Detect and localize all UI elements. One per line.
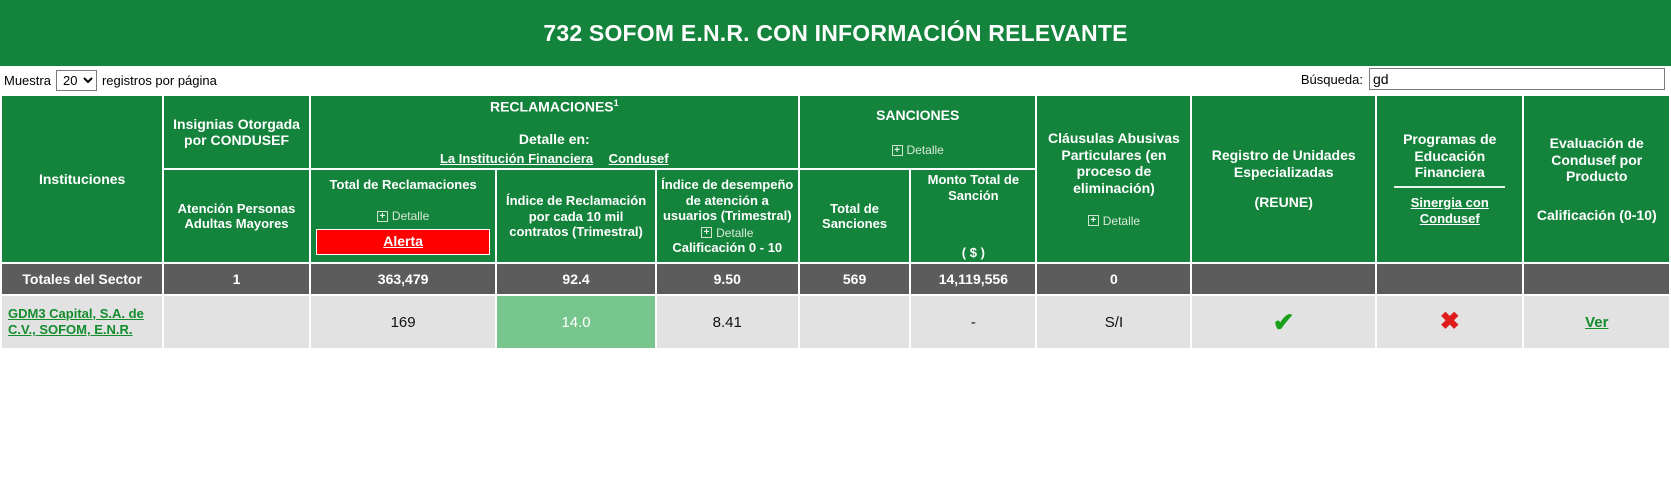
page-length-select[interactable]: 20 — [56, 70, 97, 91]
reclamaciones-footnote-ref: 1 — [614, 98, 619, 108]
link-institucion-financiera[interactable]: La Institución Financiera — [440, 151, 593, 166]
page-title-bar: 732 SOFOM E.N.R. CON INFORMACIÓN RELEVAN… — [0, 0, 1671, 66]
reclamaciones-label: RECLAMACIONES — [490, 99, 614, 115]
col-reclamaciones-group: RECLAMACIONES1 Detalle en: La Institució… — [311, 96, 798, 168]
row-indice-desempeno: 8.41 — [657, 296, 798, 348]
row-total-sanciones — [800, 296, 909, 348]
totals-indice-desempeno: 9.50 — [657, 264, 798, 294]
row-reune-cell: ✔ — [1192, 296, 1375, 348]
totals-row: Totales del Sector 1 363,479 92.4 9.50 5… — [2, 264, 1669, 294]
plus-icon: + — [1088, 215, 1099, 226]
row-institucion-cell: GDM3 Capital, S.A. de C.V., SOFOM, E.N.R… — [2, 296, 162, 348]
clausulas-detalle-inner[interactable]: + Detalle — [1088, 214, 1140, 228]
col-reune: Registro de Unidades Especializadas (REU… — [1192, 96, 1375, 262]
plus-icon: + — [892, 145, 903, 156]
monto-total-unit-label: ( $ ) — [914, 245, 1032, 260]
reune-label-line2: (REUNE) — [1195, 194, 1372, 211]
col-evaluacion-condusef: Evaluación de Condusef por Producto Cali… — [1524, 96, 1669, 262]
totals-evaluacion — [1524, 264, 1669, 294]
check-icon: ✔ — [1273, 307, 1295, 337]
row-indice-reclamacion: 14.0 — [497, 296, 654, 348]
col-atencion-personas-adultas-mayores: Atención Personas Adultas Mayores — [164, 170, 308, 262]
col-monto-total-sancion: Monto Total de Sanción ( $ ) — [911, 170, 1035, 262]
sanciones-label: SANCIONES — [803, 107, 1033, 124]
sanciones-detalle-inner[interactable]: + Detalle — [892, 143, 944, 157]
sinergia-link-wrap: Sinergia con Condusef — [1380, 194, 1519, 227]
institucion-link[interactable]: GDM3 Capital, S.A. de C.V., SOFOM, E.N.R… — [8, 306, 144, 337]
reclamaciones-links: La Institución Financiera Condusef — [314, 150, 795, 167]
programas-label: Programas de Educación Financiera — [1380, 131, 1519, 181]
col-insignias-group: Insignias Otorgada por CONDUSEF — [164, 96, 308, 168]
table-row: GDM3 Capital, S.A. de C.V., SOFOM, E.N.R… — [2, 296, 1669, 348]
link-sinergia-condusef[interactable]: Sinergia con Condusef — [1411, 195, 1489, 227]
total-reclamaciones-detalle-inner[interactable]: + Detalle — [377, 209, 429, 223]
indice-desempeno-calif-label: Calificación 0 - 10 — [660, 240, 795, 255]
col-indice-reclamacion: Índice de Reclamación por cada 10 mil co… — [497, 170, 654, 262]
col-indice-desempeno: Índice de desempeño de atención a usuari… — [657, 170, 798, 262]
monto-total-label: Monto Total de Sanción — [914, 172, 1032, 203]
evaluacion-label-line1: Evaluación de Condusef por Producto — [1527, 135, 1666, 185]
ver-link[interactable]: Ver — [1585, 314, 1608, 331]
row-total-reclamaciones: 169 — [311, 296, 496, 348]
col-programas-educacion: Programas de Educación Financiera Sinerg… — [1377, 96, 1522, 262]
reune-label-line1: Registro de Unidades Especializadas — [1195, 147, 1372, 180]
evaluacion-label-line2: Calificación (0-10) — [1527, 207, 1666, 224]
clausulas-detalle-label: Detalle — [1103, 214, 1140, 228]
indice-desempeno-detalle-inner[interactable]: + Detalle — [701, 226, 753, 240]
search-control: Búsqueda: — [1301, 68, 1665, 90]
header-row-groups: Instituciones Insignias Otorgada por CON… — [2, 96, 1669, 168]
total-reclamaciones-detalle-label: Detalle — [392, 209, 429, 223]
cross-icon: ✖ — [1440, 308, 1460, 335]
reclamaciones-detalle-label: Detalle en: — [314, 131, 795, 148]
plus-icon: + — [377, 211, 388, 222]
table-body: Totales del Sector 1 363,479 92.4 9.50 5… — [2, 264, 1669, 348]
indice-desempeno-detalle-label: Detalle — [716, 226, 753, 240]
table-header: Instituciones Insignias Otorgada por CON… — [2, 96, 1669, 262]
page-length-suffix-label: registros por página — [102, 73, 217, 88]
totals-total-sanciones: 569 — [800, 264, 909, 294]
search-input[interactable] — [1369, 68, 1665, 90]
row-programas-cell: ✖ — [1377, 296, 1522, 348]
indice-desempeno-detalle-toggle[interactable]: + Detalle — [660, 223, 795, 240]
row-monto-total: - — [911, 296, 1035, 348]
col-sanciones-group: SANCIONES + Detalle — [800, 96, 1036, 168]
plus-icon: + — [701, 227, 712, 238]
sanciones-detalle-label: Detalle — [907, 143, 944, 157]
institutions-table: Instituciones Insignias Otorgada por CON… — [0, 94, 1671, 350]
page-length-prefix-label: Muestra — [4, 73, 51, 88]
clausulas-label: Cláusulas Abusivas Particulares (en proc… — [1040, 130, 1187, 196]
clausulas-detalle-toggle[interactable]: + Detalle — [1040, 210, 1187, 228]
col-instituciones: Instituciones — [2, 96, 162, 262]
totals-programas — [1377, 264, 1522, 294]
row-clausulas: S/I — [1037, 296, 1190, 348]
search-label: Búsqueda: — [1301, 72, 1363, 87]
page-length-control: Muestra 20 registros por página — [4, 70, 217, 91]
sanciones-detalle-toggle[interactable]: + Detalle — [803, 140, 1033, 158]
totals-atencion-mayores: 1 — [164, 264, 308, 294]
col-clausulas-abusivas: Cláusulas Abusivas Particulares (en proc… — [1037, 96, 1190, 262]
alerta-label: Alerta — [383, 233, 423, 249]
totals-label: Totales del Sector — [2, 264, 162, 294]
indice-desempeno-label: Índice de desempeño de atención a usuari… — [660, 177, 795, 223]
total-reclamaciones-label: Total de Reclamaciones — [314, 177, 493, 192]
total-reclamaciones-detalle-toggle[interactable]: + Detalle — [314, 207, 493, 224]
page-root: 732 SOFOM E.N.R. CON INFORMACIÓN RELEVAN… — [0, 0, 1671, 493]
totals-total-reclamaciones: 363,479 — [311, 264, 496, 294]
alerta-button[interactable]: Alerta — [316, 229, 491, 255]
page-title: 732 SOFOM E.N.R. CON INFORMACIÓN RELEVAN… — [543, 20, 1127, 47]
totals-monto-total: 14,119,556 — [911, 264, 1035, 294]
row-atencion-mayores — [164, 296, 308, 348]
link-condusef[interactable]: Condusef — [609, 151, 669, 166]
table-controls: Muestra 20 registros por página Búsqueda… — [0, 66, 1671, 94]
totals-clausulas: 0 — [1037, 264, 1190, 294]
divider — [1394, 186, 1505, 188]
col-total-sanciones: Total de Sanciones — [800, 170, 909, 262]
col-total-reclamaciones: Total de Reclamaciones + Detalle Alerta — [311, 170, 496, 262]
totals-indice-reclamacion: 92.4 — [497, 264, 654, 294]
totals-reune — [1192, 264, 1375, 294]
row-evaluacion-cell: Ver — [1524, 296, 1669, 348]
reclamaciones-title: RECLAMACIONES1 — [314, 98, 795, 115]
